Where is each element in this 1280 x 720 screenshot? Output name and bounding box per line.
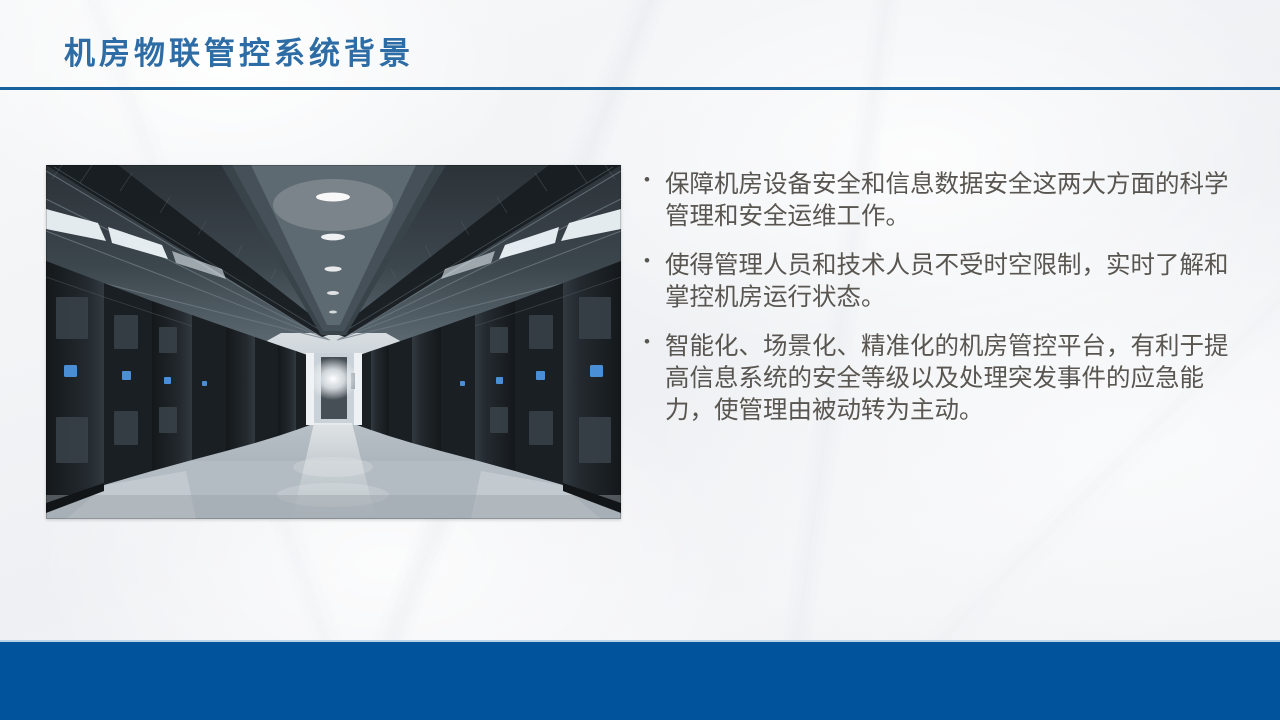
bullet-dot-icon: •: [644, 168, 665, 180]
bullet-dot-icon: •: [644, 330, 665, 342]
footer-bar: 时波网络 Timewave: [0, 642, 1280, 720]
list-item: • 保障机房设备安全和信息数据安全这两大方面的科学管理和安全运维工作。: [644, 168, 1232, 232]
slide-canvas: 机房物联管控系统背景: [0, 0, 1280, 720]
datacenter-photo: [46, 165, 621, 519]
page-title: 机房物联管控系统背景: [64, 28, 414, 73]
header-divider: [0, 87, 1280, 90]
bullet-dot-icon: •: [644, 249, 665, 261]
bullet-text: 智能化、场景化、精准化的机房管控平台，有利于提高信息系统的安全等级以及处理突发事…: [665, 330, 1232, 426]
datacenter-photo-graphic: [46, 165, 621, 519]
bullet-list: • 保障机房设备安全和信息数据安全这两大方面的科学管理和安全运维工作。 • 使得…: [644, 168, 1232, 426]
bullet-text: 使得管理人员和技术人员不受时空限制，实时了解和掌控机房运行状态。: [665, 249, 1232, 313]
list-item: • 智能化、场景化、精准化的机房管控平台，有利于提高信息系统的安全等级以及处理突…: [644, 330, 1232, 426]
list-item: • 使得管理人员和技术人员不受时空限制，实时了解和掌控机房运行状态。: [644, 249, 1232, 313]
bullet-text: 保障机房设备安全和信息数据安全这两大方面的科学管理和安全运维工作。: [665, 168, 1232, 232]
